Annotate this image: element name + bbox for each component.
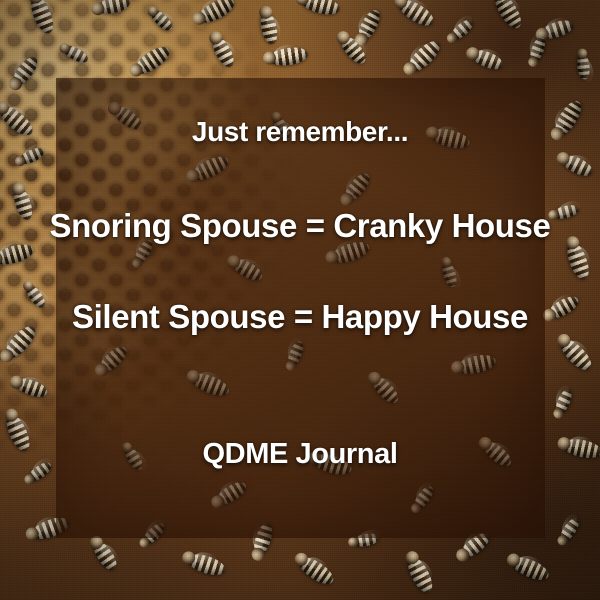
bee [148, 6, 176, 33]
bee [61, 42, 90, 65]
bee [267, 45, 309, 67]
bee [403, 553, 437, 596]
bee [557, 515, 582, 544]
bee [0, 101, 37, 140]
bee [0, 241, 36, 268]
bee [194, 0, 237, 27]
bee [556, 334, 596, 375]
bee [550, 97, 586, 140]
bee [551, 203, 580, 221]
bee [27, 0, 58, 36]
bee [89, 537, 120, 574]
bee [558, 151, 595, 179]
bee [553, 387, 575, 417]
bee [576, 52, 591, 80]
bee [208, 33, 237, 70]
bee [258, 9, 280, 45]
bee [508, 553, 551, 585]
bee [545, 293, 582, 323]
bee [563, 239, 593, 282]
bee [25, 459, 54, 485]
bee [131, 42, 174, 78]
bee [395, 0, 438, 30]
dark-text-panel [56, 78, 545, 538]
bee [11, 185, 36, 222]
bee [184, 550, 227, 579]
bee [468, 46, 505, 73]
bee [23, 282, 49, 311]
bee [0, 322, 39, 363]
bee [490, 0, 526, 32]
bee [295, 552, 338, 588]
bee [12, 375, 49, 401]
bee [9, 53, 42, 89]
bee [2, 411, 34, 454]
bee [447, 17, 475, 44]
bee [527, 35, 548, 64]
bee [404, 36, 445, 76]
bee [298, 0, 341, 18]
bee [354, 7, 383, 44]
meme-image: Just remember... Snoring Spouse = Cranky… [0, 0, 600, 600]
bee [17, 145, 47, 167]
bee [95, 0, 131, 16]
bee [561, 436, 600, 461]
